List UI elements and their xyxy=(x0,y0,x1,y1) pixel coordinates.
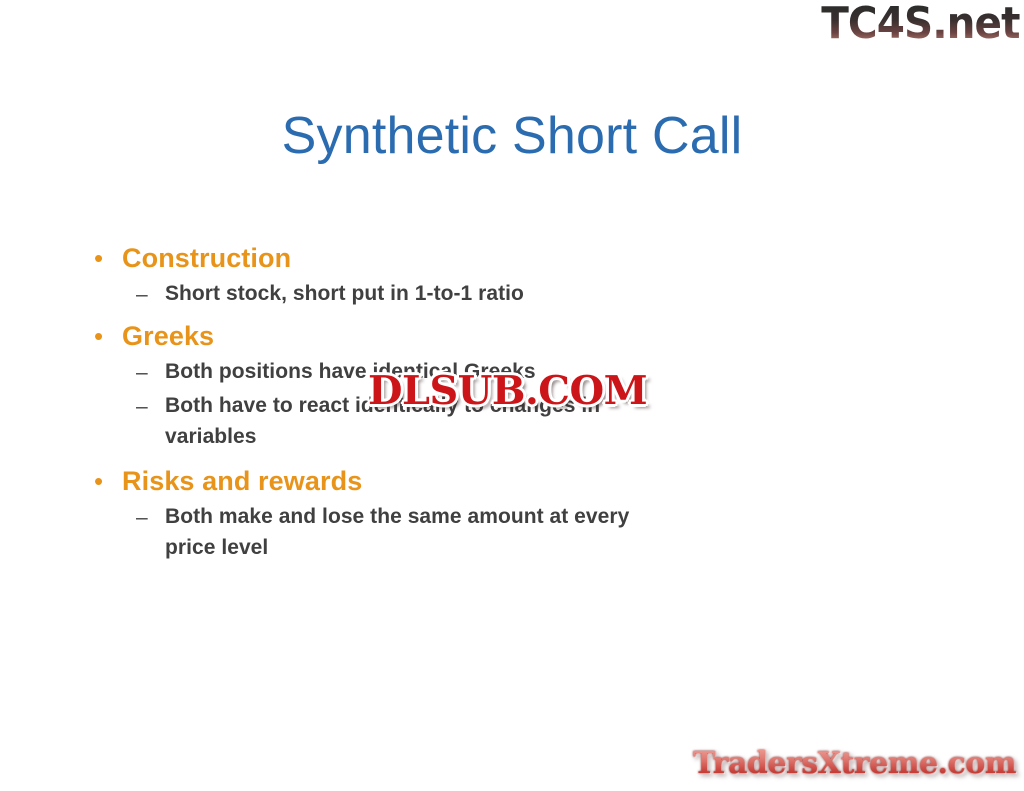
tc4s-brand-logo: TC4S.net xyxy=(822,2,1020,46)
bullet-item-risks-and-rewards: • Risks and rewards xyxy=(88,463,708,499)
sub-bullet-item: – Both make and lose the same amount at … xyxy=(136,501,708,563)
bullet-point-icon: • xyxy=(88,318,122,354)
tradersxtreme-footer-logo: TradersXtreme.com xyxy=(693,747,1016,781)
page-title: Synthetic Short Call xyxy=(0,108,1024,165)
bullet-heading-label: Greeks xyxy=(122,318,214,354)
dlsub-watermark: DLSUB.COM xyxy=(368,369,647,413)
dash-bullet-icon: – xyxy=(136,356,165,389)
spacer xyxy=(88,453,708,463)
presentation-slide: TC4S.net Synthetic Short Call • Construc… xyxy=(0,0,1024,791)
dash-bullet-icon: – xyxy=(136,501,165,534)
sub-bullet-item: – Short stock, short put in 1-to-1 ratio xyxy=(136,278,708,311)
dash-bullet-icon: – xyxy=(136,278,165,311)
bullet-heading-label: Construction xyxy=(122,240,291,276)
bullet-point-icon: • xyxy=(88,240,122,276)
sub-bullet-label: Short stock, short put in 1-to-1 ratio xyxy=(165,278,524,309)
sub-bullet-label: Both make and lose the same amount at ev… xyxy=(165,501,635,563)
bullet-item-construction: • Construction xyxy=(88,240,708,276)
dash-bullet-icon: – xyxy=(136,390,165,423)
bullet-point-icon: • xyxy=(88,463,122,499)
bullet-heading-label: Risks and rewards xyxy=(122,463,362,499)
bullet-item-greeks: • Greeks xyxy=(88,318,708,354)
